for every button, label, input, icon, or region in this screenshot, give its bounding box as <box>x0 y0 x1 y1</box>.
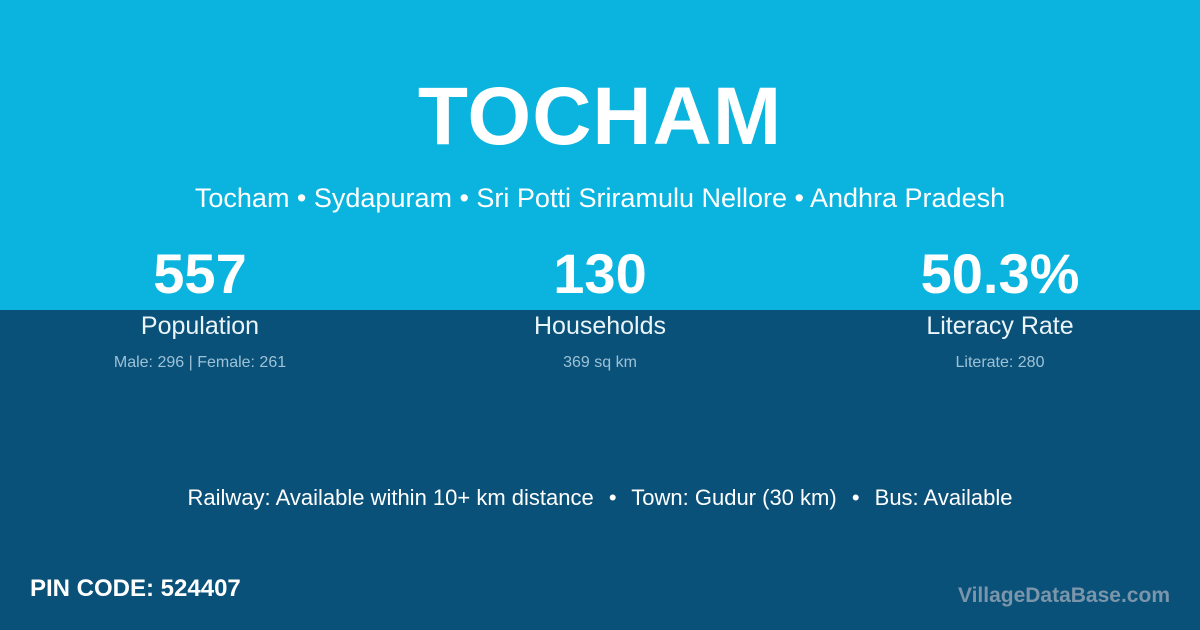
breadcrumb: Tocham • Sydapuram • Sri Potti Sriramulu… <box>0 182 1200 214</box>
infra-separator-1: • <box>600 485 626 510</box>
brand-watermark: VillageDataBase.com <box>958 583 1170 608</box>
stat-population: 557 Population Male: 296 | Female: 261 <box>0 244 400 371</box>
stat-label-population: Population <box>0 313 400 341</box>
stats-row: 557 Population Male: 296 | Female: 261 1… <box>0 244 1200 371</box>
stat-sub-literacy-rate: Literate: 280 <box>800 354 1200 372</box>
page-title: TOCHAM <box>0 76 1200 158</box>
stat-literacy-rate: 50.3% Literacy Rate Literate: 280 <box>800 244 1200 371</box>
stat-value-literacy-rate: 50.3% <box>800 244 1200 303</box>
stat-sub-households: 369 sq km <box>400 354 800 372</box>
stat-value-population: 557 <box>0 244 400 303</box>
stat-sub-population: Male: 296 | Female: 261 <box>0 354 400 372</box>
infra-bus: Bus: Available <box>875 485 1013 510</box>
infra-town: Town: Gudur (30 km) <box>631 485 836 510</box>
stat-households: 130 Households 369 sq km <box>400 244 800 371</box>
village-info-card: TOCHAM Tocham • Sydapuram • Sri Potti Sr… <box>0 0 1200 630</box>
infra-railway: Railway: Available within 10+ km distanc… <box>188 485 594 510</box>
stat-label-literacy-rate: Literacy Rate <box>800 313 1200 341</box>
pin-code: PIN CODE: 524407 <box>30 575 241 604</box>
stat-value-households: 130 <box>400 244 800 303</box>
infra-separator-2: • <box>843 485 869 510</box>
stat-label-households: Households <box>400 313 800 341</box>
infrastructure-line: Railway: Available within 10+ km distanc… <box>0 485 1200 511</box>
